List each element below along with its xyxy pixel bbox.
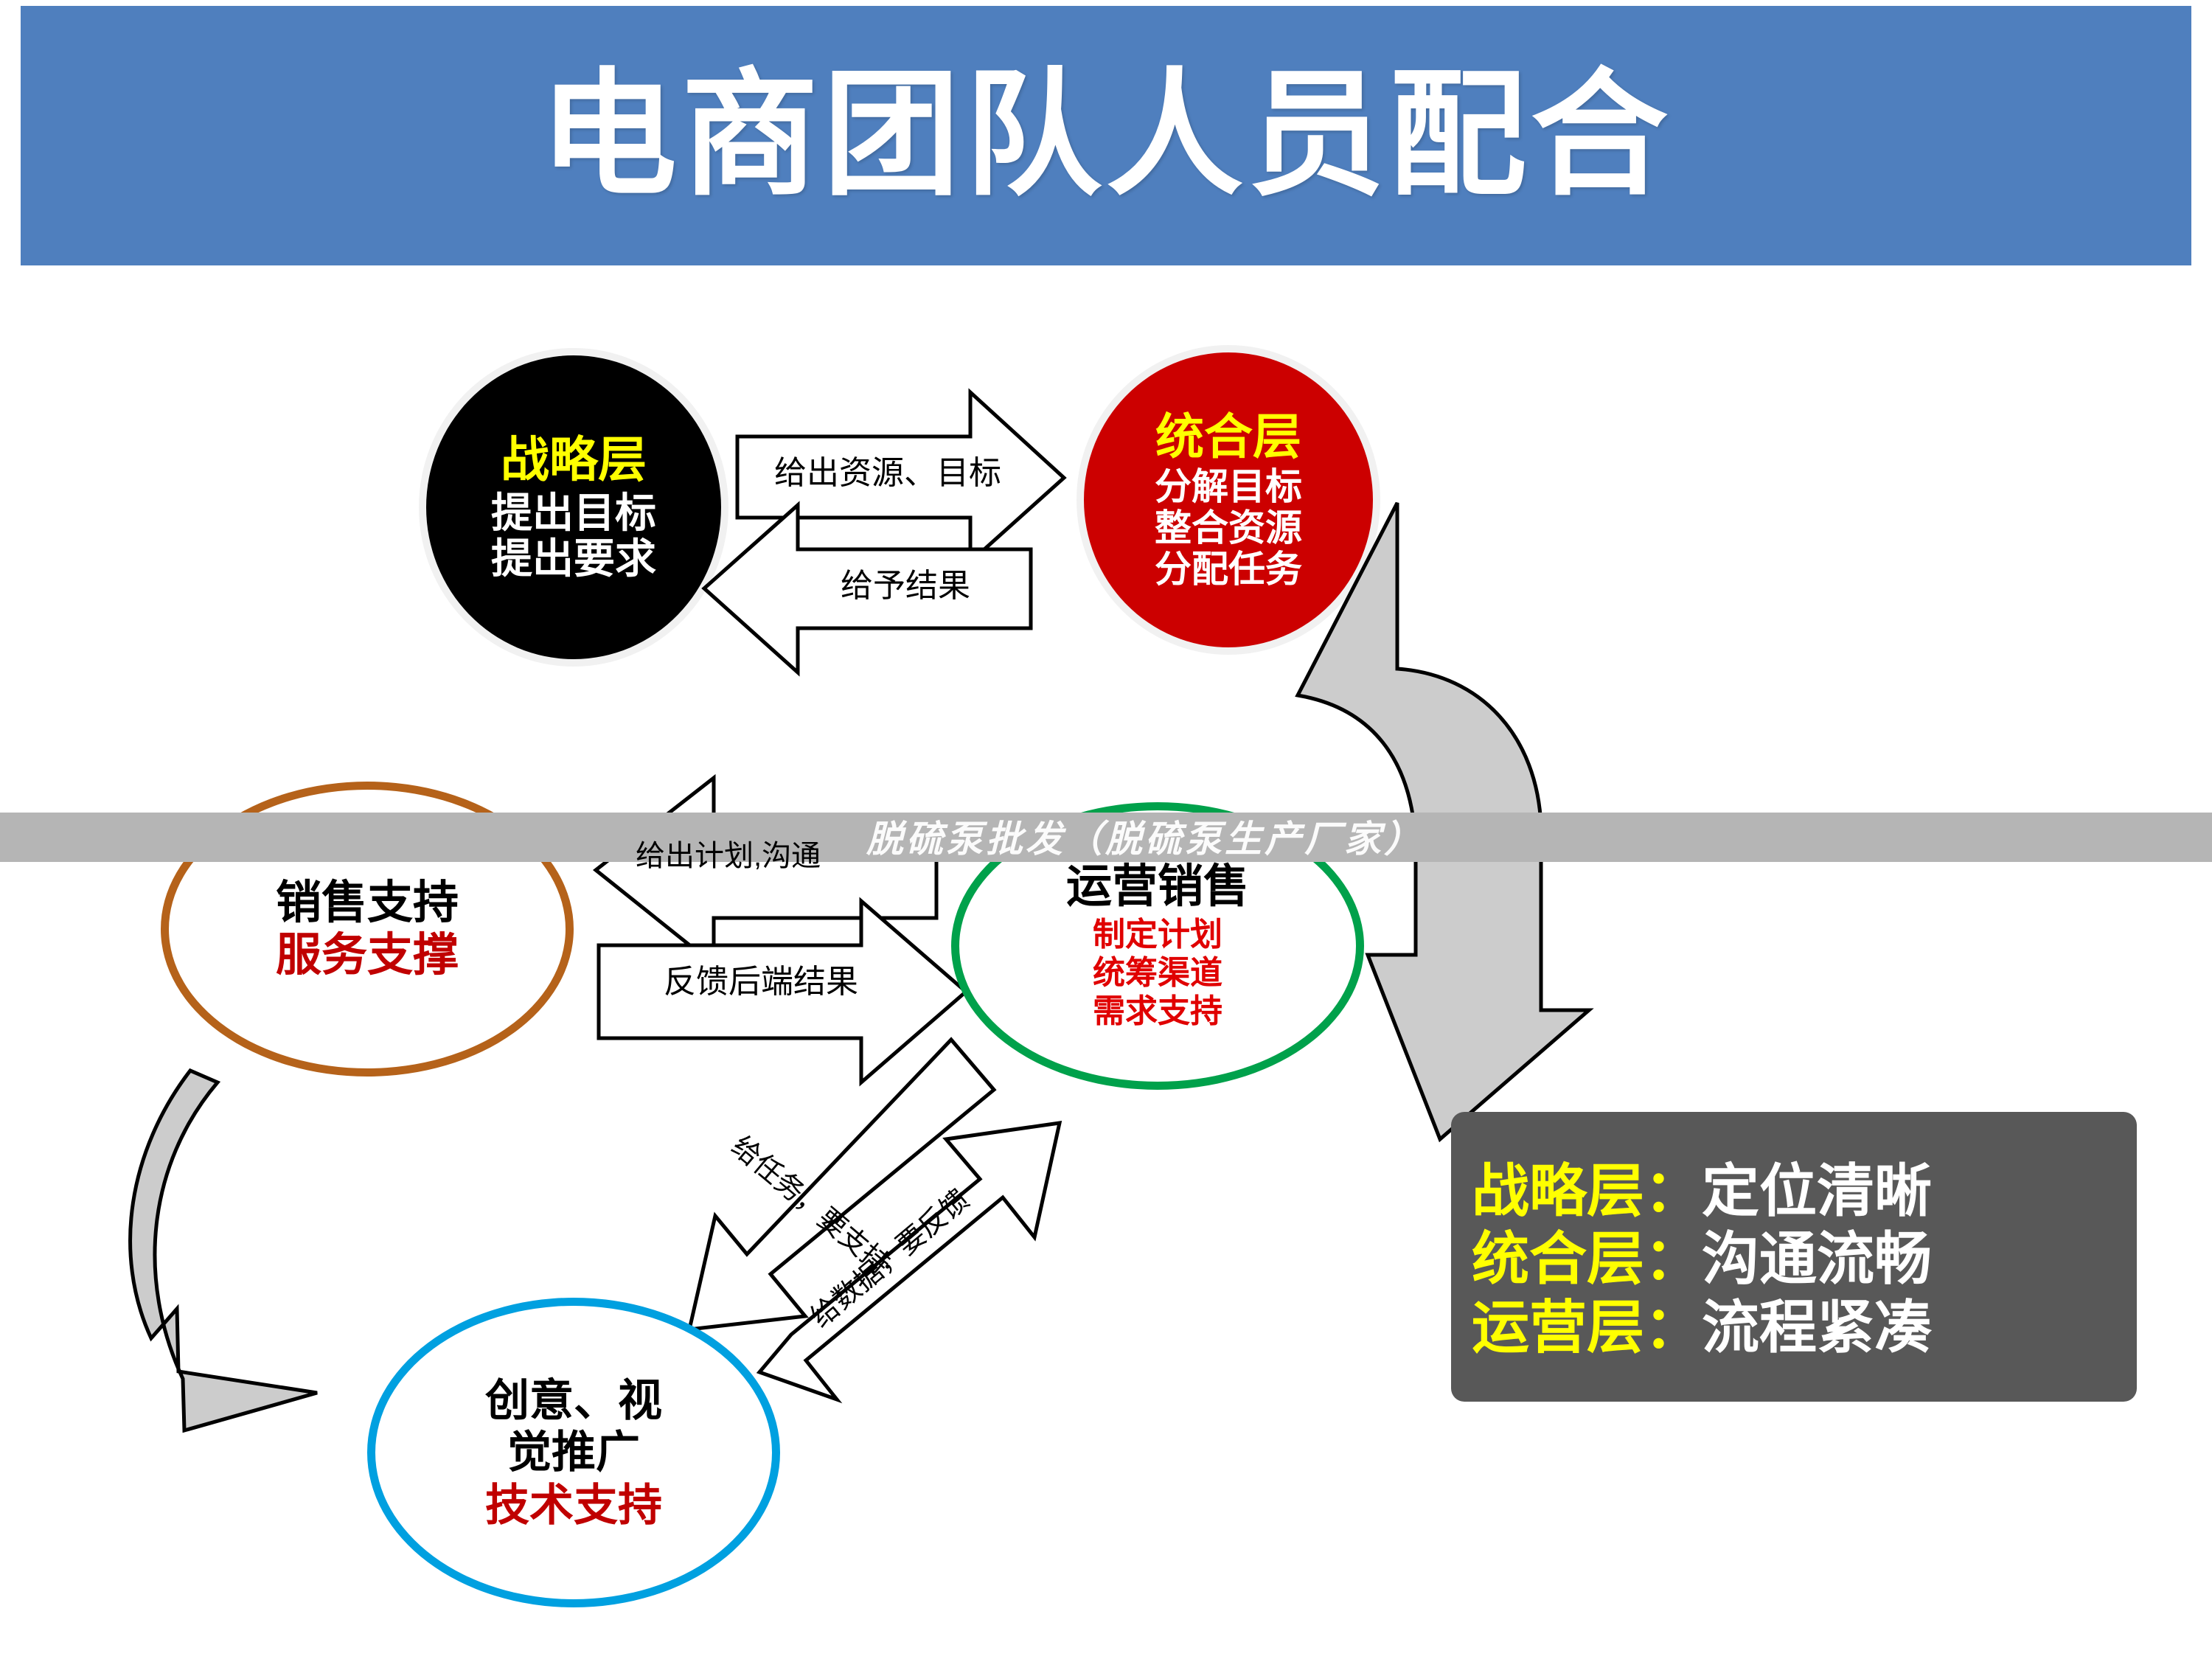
legend-separator: ： <box>1644 1225 1702 1293</box>
node-creative-header-line-2: 觉推广 <box>507 1427 640 1478</box>
title-banner: 电商团队人员配合 <box>21 6 2191 265</box>
node-operations-line-1: 制定计划 <box>1093 916 1222 954</box>
node-strategy-line-2: 提出要求 <box>491 536 656 582</box>
node-operations-line-3: 需求支持 <box>1093 992 1222 1031</box>
legend-separator: ： <box>1644 1157 1702 1225</box>
node-creative-header-line-1: 创意、视 <box>485 1375 662 1427</box>
arrow-label-operations-to-sales: 给出计划,沟通 <box>636 832 821 874</box>
node-sales-line-1: 服务支撑 <box>276 931 459 981</box>
legend-value-operations: 流程紧凑 <box>1702 1293 1932 1361</box>
node-integration-line-3: 分配任务 <box>1155 549 1302 590</box>
node-operations-header: 运营销售 <box>1066 861 1249 912</box>
legend-value-integration: 沟通流畅 <box>1702 1225 1932 1293</box>
node-strategy-layer[interactable]: 战略层 提出目标 提出要求 <box>426 355 721 659</box>
node-strategy-line-1: 提出目标 <box>491 490 656 536</box>
watermark-text: 脱硫泵批发（脱硫泵生产厂家） <box>866 810 1424 863</box>
arrow-label-strategy-to-integration: 给出资源、目标 <box>774 446 1001 493</box>
legend-key-strategy: 战略层 <box>1472 1157 1644 1225</box>
legend-row-strategy: 战略层 ： 定位清晰 <box>1472 1157 2112 1225</box>
curved-arrow-sales-to-creative <box>131 1071 317 1430</box>
node-integration-line-1: 分解目标 <box>1155 466 1302 507</box>
legend-separator: ： <box>1644 1293 1702 1361</box>
legend-box: 战略层 ： 定位清晰 统合层 ： 沟通流畅 运营层 ： 流程紧凑 <box>1451 1112 2137 1402</box>
node-creative-visual[interactable]: 创意、视 觉推广 技术支持 <box>367 1298 780 1607</box>
arrow-label-sales-to-operations: 反馈后端结果 <box>664 955 858 1002</box>
node-operations-line-2: 统筹渠道 <box>1093 954 1222 992</box>
slide-canvas: 电商团队人员配合 给出资源、目标 给予结果 给出计划,沟通 反馈后端结果 给任务… <box>0 0 2212 1659</box>
legend-value-strategy: 定位清晰 <box>1702 1157 1932 1225</box>
node-integration-layer[interactable]: 统合层 分解目标 整合资源 分配任务 <box>1084 352 1373 647</box>
node-integration-line-2: 整合资源 <box>1155 507 1302 549</box>
legend-row-integration: 统合层 ： 沟通流畅 <box>1472 1225 2112 1293</box>
legend-key-operations: 运营层 <box>1472 1293 1644 1361</box>
arrow-label-integration-to-strategy: 给予结果 <box>841 559 970 606</box>
node-creative-line-1: 技术支持 <box>485 1481 662 1530</box>
page-title: 电商团队人员配合 <box>540 67 1672 204</box>
node-sales-header: 销售支持 <box>276 877 459 928</box>
legend-row-operations: 运营层 ： 流程紧凑 <box>1472 1293 2112 1361</box>
legend-key-integration: 统合层 <box>1472 1225 1644 1293</box>
node-integration-header: 统合层 <box>1155 410 1301 465</box>
node-strategy-header: 战略层 <box>501 433 647 487</box>
